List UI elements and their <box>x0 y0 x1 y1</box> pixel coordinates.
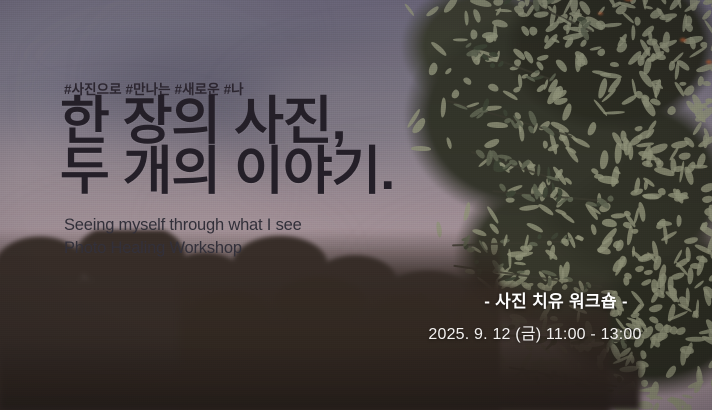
leaf <box>692 378 704 394</box>
leaf <box>640 350 647 360</box>
leaf <box>528 25 538 36</box>
leaf <box>701 9 712 21</box>
leaf <box>611 213 626 219</box>
leaf <box>602 217 618 227</box>
leaf <box>700 182 712 194</box>
leaf <box>575 235 584 240</box>
leaf <box>514 262 526 267</box>
tree-silhouette-base <box>0 340 640 410</box>
leaf <box>425 5 440 18</box>
leaf <box>427 61 439 76</box>
leaf <box>679 82 686 86</box>
leaf <box>701 195 712 204</box>
leaf <box>685 287 690 304</box>
leaf <box>506 198 515 203</box>
leaf <box>518 204 539 212</box>
leaf <box>537 234 542 240</box>
leaf <box>695 299 700 318</box>
leaf <box>638 389 659 392</box>
leaf <box>451 88 461 99</box>
leaf <box>537 202 555 217</box>
poster-title: 한 장의 사진, 두 개의 이야기. <box>60 98 381 198</box>
leaf <box>682 394 694 399</box>
leaf <box>599 150 609 170</box>
leaf <box>462 76 473 86</box>
leaf <box>703 81 712 87</box>
leaf <box>708 274 712 283</box>
leaf <box>487 205 501 224</box>
leaf <box>646 393 663 400</box>
leaf <box>494 24 498 41</box>
leaf <box>643 192 662 199</box>
rust-accent <box>706 60 712 64</box>
leaf <box>469 0 492 8</box>
leaf <box>439 98 446 119</box>
leaf <box>472 9 482 25</box>
leaf <box>561 103 574 123</box>
workshop-date: 2025. 9. 12 (금) 11:00 - 13:00 <box>410 320 660 344</box>
leaf <box>597 246 612 256</box>
leaf <box>637 252 655 264</box>
leaf <box>610 62 620 68</box>
subtitle-line-2: Photo Healing Workshop <box>64 237 302 260</box>
leaf <box>667 0 684 12</box>
leaf <box>670 287 678 295</box>
leaf <box>705 97 712 104</box>
leaf <box>465 42 472 49</box>
workshop-label: - 사진 치유 워크숍 - <box>452 287 660 312</box>
leaf <box>430 40 448 57</box>
poster-canvas: #사진으로 #만나는 #새로운 #나 한 장의 사진, 두 개의 이야기. Se… <box>0 0 712 410</box>
leaf <box>444 66 453 75</box>
leaf <box>652 402 661 410</box>
rust-accent <box>598 12 603 15</box>
leaf <box>671 271 686 281</box>
leaf <box>679 152 692 160</box>
leaf <box>586 121 598 137</box>
leaf <box>446 137 454 150</box>
leaf <box>685 247 691 262</box>
title-line-1: 한 장의 사진, <box>60 98 394 148</box>
leaf <box>483 137 500 150</box>
leaf <box>703 19 712 38</box>
leaf <box>512 86 522 94</box>
leaf <box>411 145 431 150</box>
leaf <box>687 267 694 284</box>
leaf <box>493 0 504 7</box>
leaf <box>655 0 668 5</box>
leaf <box>490 62 497 68</box>
leaf <box>554 57 569 73</box>
leaf <box>707 360 712 371</box>
leaf <box>464 10 469 25</box>
leaf <box>590 223 598 235</box>
leaf <box>643 180 648 190</box>
leaf <box>505 155 508 161</box>
rust-accent <box>680 38 686 42</box>
leaf <box>643 0 649 5</box>
leaf <box>526 221 544 233</box>
leaf <box>666 105 678 117</box>
leaf <box>664 365 678 381</box>
leaf <box>631 25 635 40</box>
leaf <box>631 79 638 97</box>
leaf <box>676 215 682 227</box>
leaf <box>463 202 472 221</box>
leaf <box>453 38 468 41</box>
leaf <box>547 167 550 183</box>
subtitle-line-1: Seeing myself through what I see <box>64 214 302 237</box>
leaf <box>635 125 644 132</box>
leaf <box>470 30 477 40</box>
poster-subtitle: Seeing myself through what I see Photo H… <box>64 214 302 261</box>
leaf <box>641 160 653 169</box>
leaf <box>524 0 529 7</box>
leaf <box>487 82 500 93</box>
leaf <box>634 17 641 26</box>
leaf <box>692 122 703 137</box>
leaf <box>505 190 516 199</box>
leaf <box>404 3 415 17</box>
leaf <box>534 11 549 18</box>
leaf <box>656 54 666 61</box>
leaf <box>550 231 560 240</box>
leaf <box>442 0 460 15</box>
leaf <box>644 269 654 275</box>
leaf <box>523 49 535 64</box>
title-line-2: 두 개의 이야기. <box>60 148 394 198</box>
